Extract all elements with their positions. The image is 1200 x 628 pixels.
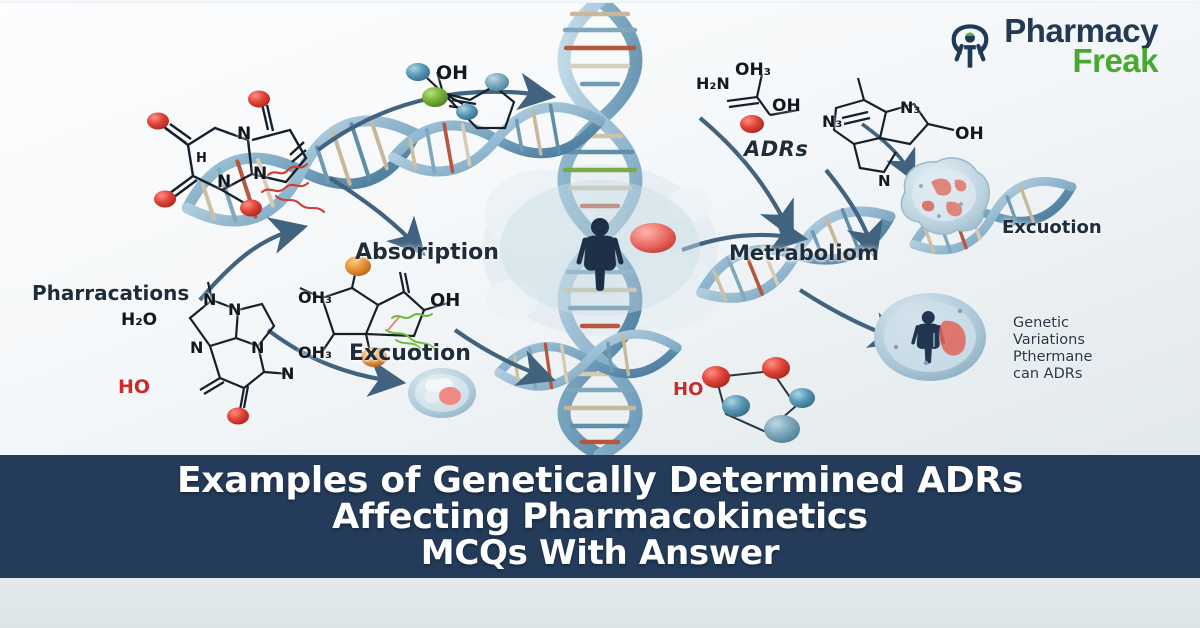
molecule-center (300, 270, 448, 352)
title-line-3: MCQs With Answer (421, 536, 779, 571)
atom-label-h-small: H (196, 151, 207, 166)
excretion-vesicle-cluster (408, 368, 476, 418)
atom-label-h2o: H₂O (121, 310, 157, 330)
label-excuotion-right: Excuotion (1002, 217, 1102, 238)
label-adrs: ADRs (744, 137, 808, 161)
footer-strip (0, 578, 1200, 628)
brand-line-2: Freak (1004, 46, 1158, 76)
brand-logo[interactable]: Pharmacy Freak (945, 16, 1158, 77)
atom-label-oh3b: OH₃ (298, 343, 332, 362)
atom-label-oh3a: OH₃ (298, 288, 332, 307)
atom-label-n3: N (190, 338, 203, 357)
atom-label-n-bottom: N (878, 172, 891, 190)
label-pharracations: Pharracations (32, 281, 189, 305)
atom-label-n1: N (203, 290, 216, 309)
label-absoription: Absoription (355, 240, 499, 265)
atom-label-n-topleft2: N (253, 164, 267, 184)
label-excuotion-center: Excuotion (349, 341, 471, 366)
molecule-center-bond-accent (388, 316, 400, 330)
atom-label-n4: N (251, 338, 264, 357)
molecule-top-right-atoms (740, 115, 764, 133)
atom-label-n5b: N (281, 364, 294, 383)
poster-canvas: OH H₂N OH₃ OH N₃ N₃ OH N H₂O HO N N N N … (0, 0, 1200, 628)
title-band: Examples of Genetically Determined ADRs … (0, 455, 1200, 578)
brain-cell-graphic (901, 158, 989, 234)
atom-label-oh-mid: OH (430, 290, 460, 311)
atom-label-ho-bottom: HO (673, 379, 703, 400)
atom-label-oh-n3: OH (955, 124, 984, 144)
atom-label-och3: OH₃ (735, 60, 771, 80)
atom-label-h2n: H₂N (696, 74, 730, 93)
title-line-2: Affecting Pharmacokinetics (332, 499, 868, 535)
molecule-bottom-right-atoms (702, 357, 815, 443)
atom-label-n3b: N₃ (900, 98, 920, 117)
adr-badge (630, 223, 676, 253)
atom-label-oh-right: OH (772, 96, 801, 116)
atom-label-n-topleft: N (237, 124, 251, 144)
title-line-1: Examples of Genetically Determined ADRs (177, 462, 1023, 499)
atom-label-ho-left: HO (118, 376, 150, 398)
pharmacy-freak-mortar-person-icon (945, 21, 995, 71)
label-metraboliom: Metraboliom (729, 241, 879, 265)
atom-label-n2: N (228, 300, 241, 319)
genetic-variations-note: Genetic Variations Pthermane can ADRs (1013, 315, 1092, 383)
genetic-variation-cell (874, 293, 986, 381)
brand-wordmark: Pharmacy Freak (1004, 16, 1158, 77)
top-edge-highlight (0, 0, 1200, 3)
atom-label-n-topleft3: N (217, 172, 231, 192)
atom-label-n3a: N₃ (822, 112, 842, 131)
atom-label-oh-top: OH (436, 62, 468, 84)
molecule-left-atoms (227, 408, 249, 425)
midleft-dna-strand (496, 326, 680, 395)
